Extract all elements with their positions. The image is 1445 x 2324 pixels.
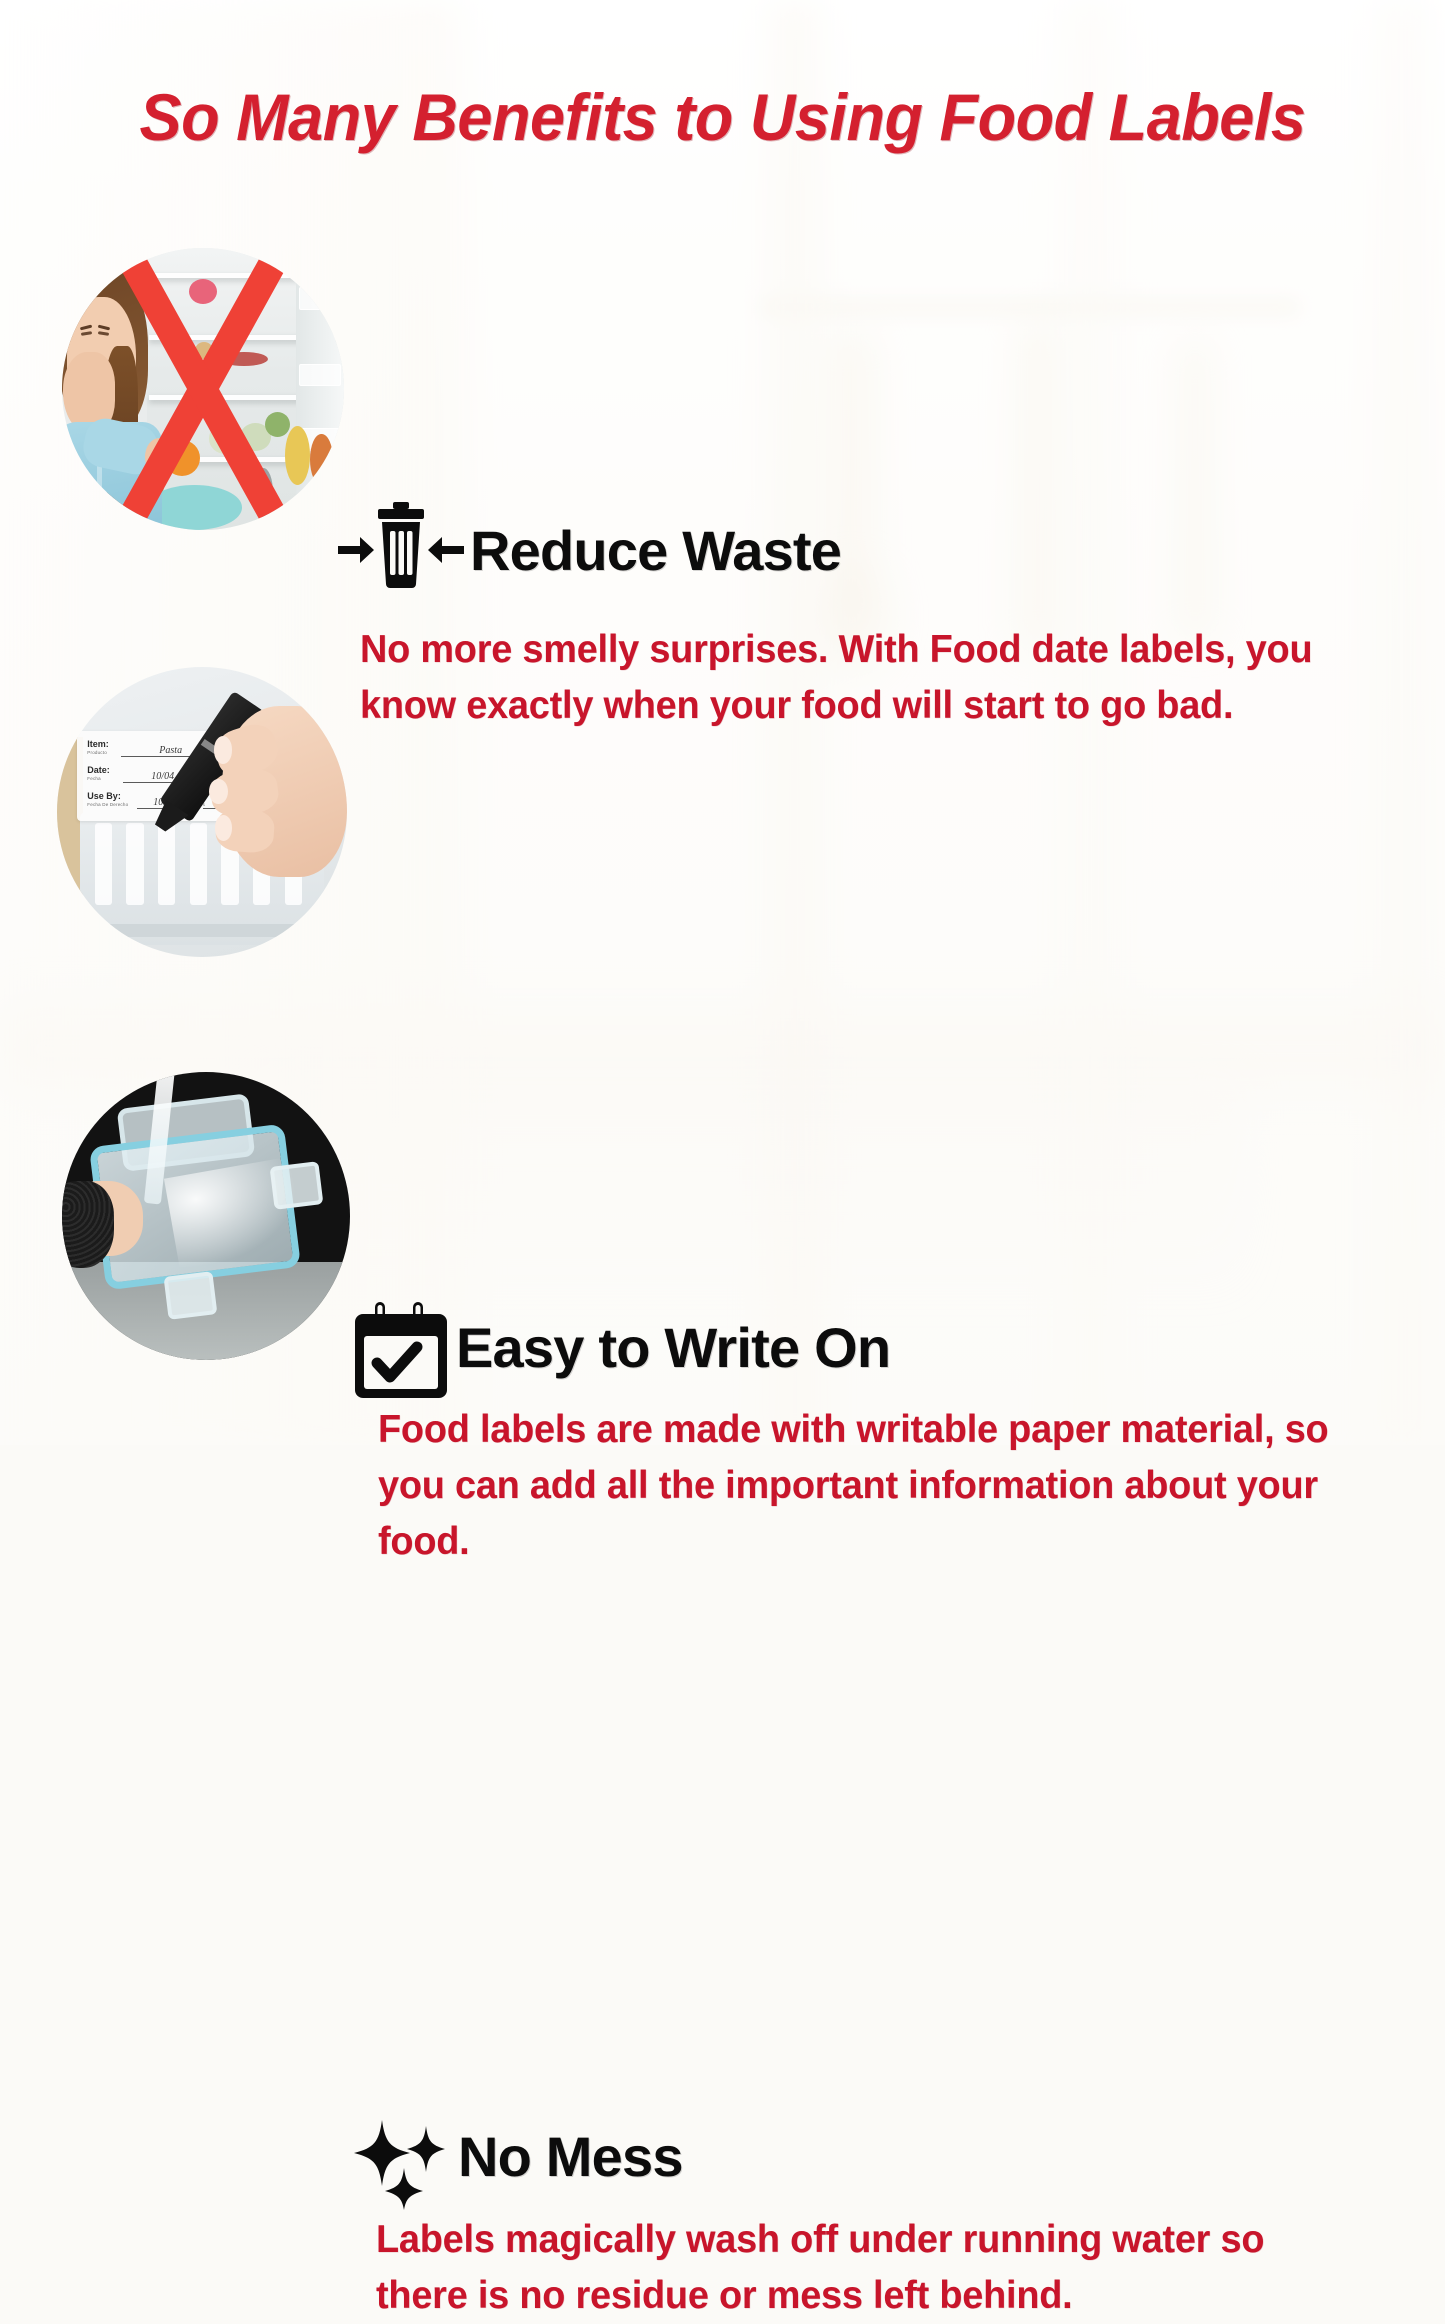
label-field-name: Use By: [87, 791, 121, 801]
rack-slot [126, 823, 143, 906]
hand-fingernail [214, 736, 233, 764]
sparkles-icon [354, 2112, 452, 2210]
rack-slot [190, 823, 207, 906]
trash-can-reduce-icon [336, 498, 466, 592]
infographic-page: So Many Benefits to Using Food Labels [0, 0, 1445, 1445]
photo-fridge-smell [62, 248, 344, 530]
label-field-value: 10/04 [151, 771, 174, 782]
label-field-sublabel: Fecha De Derecho [87, 802, 128, 807]
benefit-heading: No Mess [458, 2124, 683, 2189]
benefit-body-text: Food labels are made with writable paper… [378, 1402, 1367, 1570]
photo-writing-on-label: Item: Producto Pasta Date: Fecha 10/04 U… [57, 667, 347, 957]
label-scene: Item: Producto Pasta Date: Fecha 10/04 U… [57, 667, 347, 957]
benefit-heading: Reduce Waste [470, 518, 841, 583]
rack-slot [95, 823, 112, 906]
sponge [62, 1181, 114, 1267]
benefit-body-text: No more smelly surprises. With Food date… [360, 622, 1388, 734]
label-field-name: Item: [87, 739, 109, 749]
benefit-heading: Easy to Write On [456, 1315, 890, 1380]
label-field-sublabel: Producto [87, 750, 107, 755]
rack-base [95, 924, 309, 937]
label-field-name: Date: [87, 765, 110, 775]
page-title: So Many Benefits to Using Food Labels [33, 79, 1413, 155]
label-field-value: Pasta [159, 745, 182, 756]
calendar-check-icon [355, 1302, 447, 1398]
rack-slot [158, 823, 175, 906]
wash-scene [62, 1072, 350, 1360]
hand-holding-marker [208, 676, 347, 891]
photo-washing-container [62, 1072, 350, 1360]
container-clip [163, 1271, 217, 1320]
red-x-overlay-icon [62, 248, 344, 530]
benefit-body-text: Labels magically wash off under running … [376, 2212, 1346, 2324]
label-field-sublabel: Fecha [87, 776, 101, 781]
